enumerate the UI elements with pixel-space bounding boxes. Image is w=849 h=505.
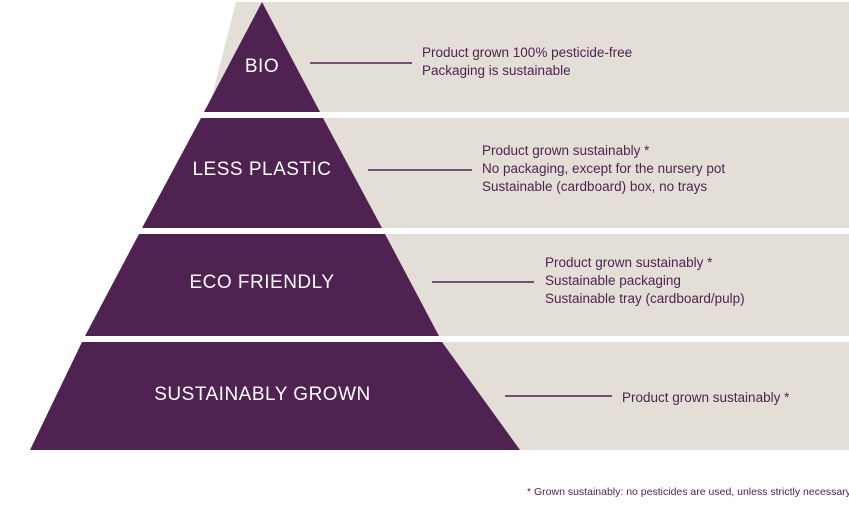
tier-label-less-plastic: LESS PLASTIC: [172, 159, 352, 181]
tier-description-less-plastic: Product grown sustainably * No packaging…: [482, 142, 725, 195]
tier-label-bio: BIO: [212, 56, 312, 78]
description-line: Packaging is sustainable: [422, 62, 632, 80]
tier-label-eco-friendly: ECO FRIENDLY: [172, 272, 352, 294]
tier-label-sustainably-grown: SUSTAINABLY GROWN: [125, 384, 400, 406]
description-line: Product grown sustainably *: [545, 254, 745, 272]
description-line: Product grown sustainably *: [482, 142, 725, 160]
band-cutout-tier-1: [0, 2, 236, 112]
tier-description-bio: Product grown 100% pesticide-free Packag…: [422, 44, 632, 80]
tier-description-sustainably-grown: Product grown sustainably *: [622, 389, 789, 407]
description-line: Sustainable packaging: [545, 272, 745, 290]
pyramid-diagram: BIO LESS PLASTIC ECO FRIENDLY SUSTAINABL…: [0, 0, 849, 505]
description-line: Sustainable (cardboard) box, no trays: [482, 178, 725, 196]
description-line: Product grown 100% pesticide-free: [422, 44, 632, 62]
description-line: Product grown sustainably *: [622, 389, 789, 407]
description-line: Sustainable tray (cardboard/pulp): [545, 290, 745, 308]
description-line: No packaging, except for the nursery pot: [482, 160, 725, 178]
footnote-text: * Grown sustainably: no pesticides are u…: [527, 486, 849, 498]
tier-description-eco-friendly: Product grown sustainably * Sustainable …: [545, 254, 745, 307]
